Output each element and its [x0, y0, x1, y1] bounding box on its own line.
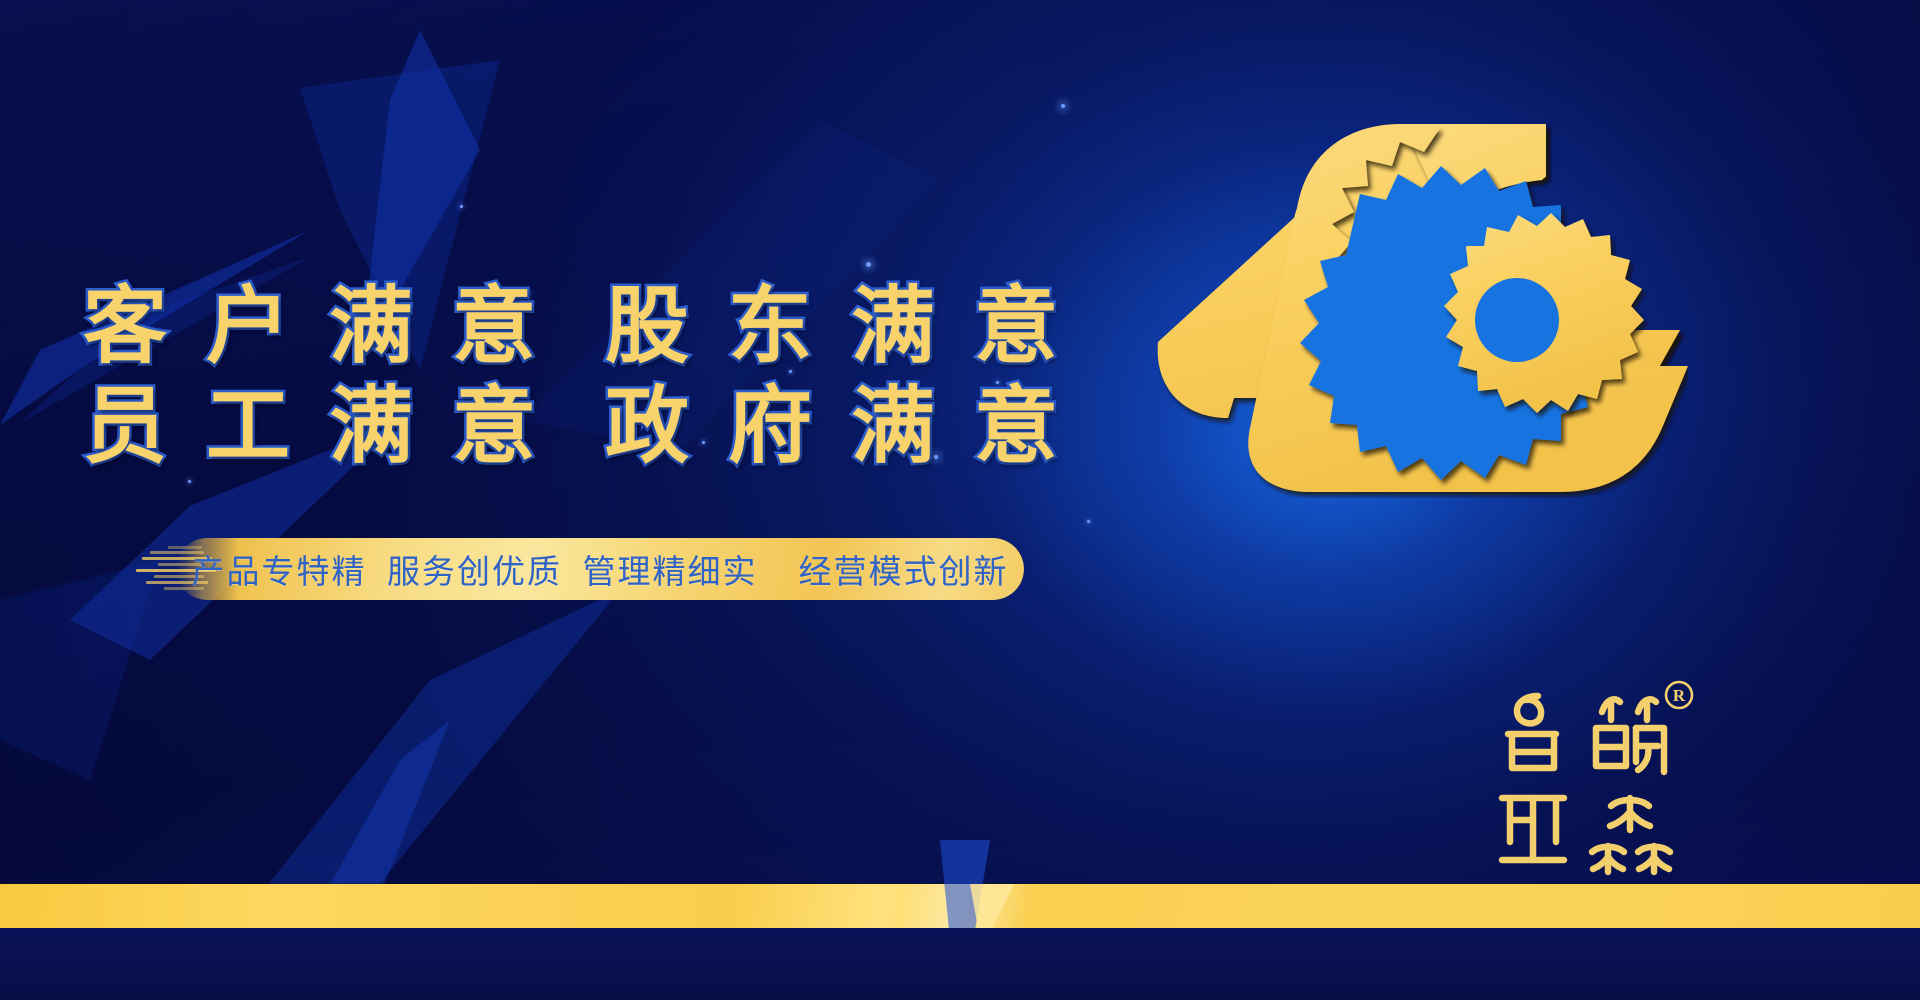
seal-char-tai	[1508, 696, 1556, 768]
star-speck	[879, 343, 883, 347]
star-speck	[344, 322, 349, 327]
bottom-navy-strip	[0, 928, 1920, 1000]
bg-polygon-bottom-left	[200, 590, 620, 920]
registered-trademark-icon: R	[1666, 682, 1692, 708]
slogan-text: 产品专特精 服务创优质 管理精细实 经营模式创新	[176, 538, 1024, 600]
bg-polygon-upper-right-2	[300, 60, 520, 370]
star-speck	[527, 292, 530, 295]
star-speck	[1061, 104, 1065, 108]
headline-block: 客 户 满 意 股 东 满 意 员 工 满 意 政 府 满 意	[0, 278, 1150, 478]
star-speck	[460, 205, 463, 208]
star-speck	[1015, 441, 1018, 444]
banner-canvas: 客 户 满 意 股 东 满 意 员 工 满 意 政 府 满 意 产品专特精 服务…	[0, 0, 1920, 1000]
gear-swoosh-logo	[1128, 98, 1688, 498]
bg-polygon-mid-left-2	[20, 255, 310, 435]
star-speck	[996, 381, 999, 384]
star-speck	[188, 480, 191, 483]
star-speck	[702, 441, 705, 444]
star-speck	[866, 262, 871, 267]
bg-polygon-mid-left	[0, 230, 310, 430]
bg-polygon-mid-center	[520, 120, 940, 450]
star-speck	[934, 455, 938, 459]
seal-char-zheng	[1502, 798, 1564, 860]
star-speck	[789, 370, 792, 373]
bg-polygon-left-edge	[0, 560, 160, 780]
seal-char-zhu	[1596, 699, 1664, 772]
seal-char-sen	[1592, 798, 1670, 872]
slogan-pill-banner: 产品专特精 服务创优质 管理精细实 经营模式创新	[176, 538, 1024, 600]
trademark-letter: R	[1673, 686, 1686, 705]
star-speck	[1087, 520, 1090, 523]
headline-line-1: 客 户 满 意 股 东 满 意	[0, 278, 1150, 378]
headline-line-2: 员 工 满 意 政 府 满 意	[0, 378, 1150, 478]
company-seal-wordmark: R	[1478, 678, 1708, 878]
bottom-gold-bar	[0, 884, 1920, 928]
bg-polygon-lower-left	[70, 410, 400, 660]
bg-polygon-upper-right	[250, 30, 480, 360]
